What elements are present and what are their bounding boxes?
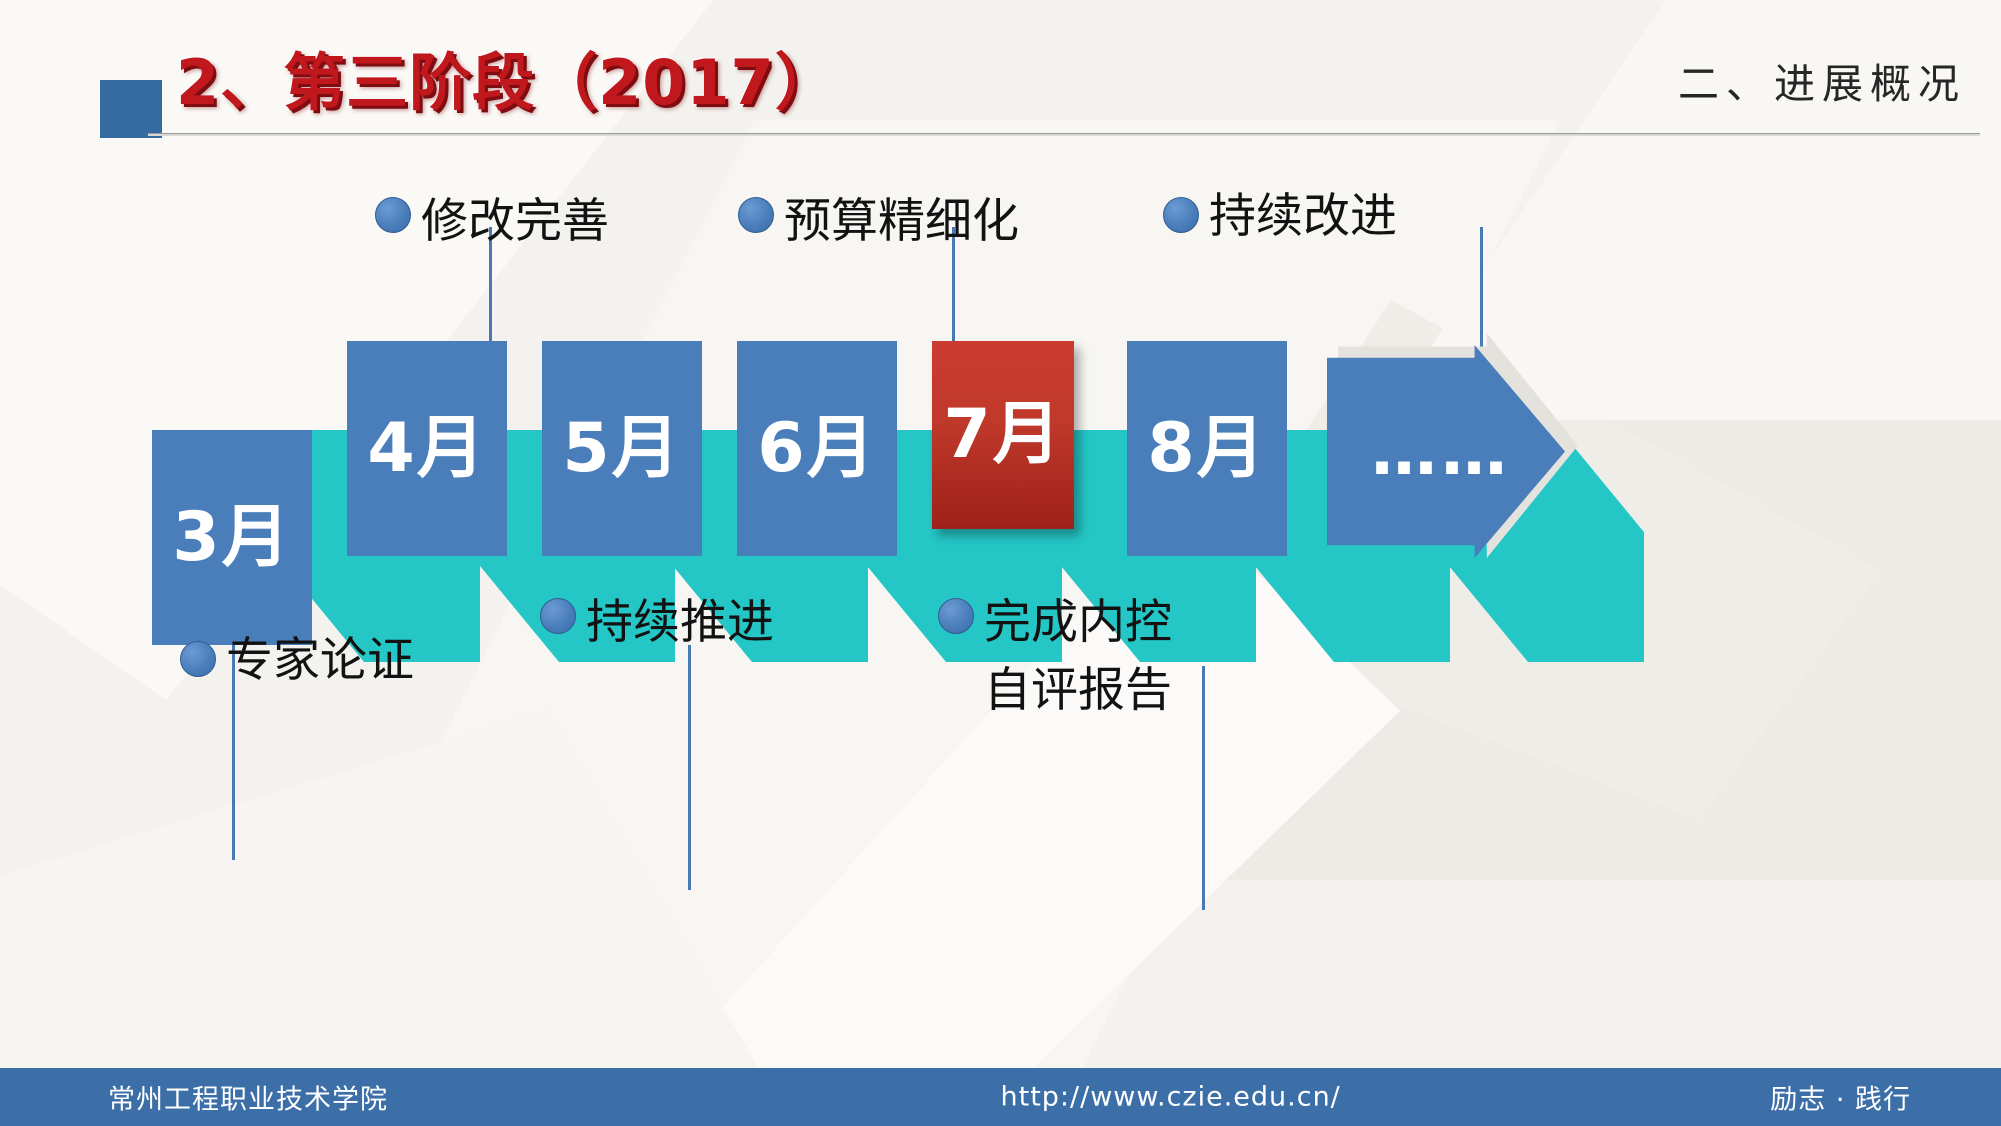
- footer-motto: 励志 · 践行: [1770, 1078, 1911, 1117]
- timeline-step-3[interactable]: 6月: [737, 341, 897, 556]
- milestone-dot-icon: [1163, 197, 1199, 233]
- timeline-step-4-current[interactable]: 7月: [932, 341, 1074, 529]
- timeline-step-1[interactable]: 4月: [347, 341, 507, 556]
- milestone-label: 修改完善: [421, 188, 609, 256]
- timeline-step-label: 7月: [943, 401, 1062, 469]
- leader-line-5月: [688, 645, 691, 890]
- timeline-step-label: 8月: [1147, 415, 1266, 483]
- milestone-dot-icon: [180, 641, 216, 677]
- timeline-step-label: 4月: [367, 415, 486, 483]
- milestone-dot-icon: [938, 598, 974, 634]
- milestone-持续改进: 持续改进: [1163, 188, 1397, 247]
- footer-url[interactable]: http://www.czie.edu.cn/: [1001, 1082, 1341, 1113]
- slide-footer: 常州工程职业技术学院 http://www.czie.edu.cn/ 励志 · …: [0, 1068, 2001, 1126]
- milestone-dot-icon: [738, 197, 774, 233]
- timeline-step-0[interactable]: 3月: [152, 430, 312, 645]
- slide-canvas: 2、第三阶段（2017） 二、进展概况 3月 4月 5月 6月: [0, 0, 2001, 1126]
- timeline-step-2[interactable]: 5月: [542, 341, 702, 556]
- milestone-label: 专家论证: [226, 632, 414, 691]
- timeline-step-label: 6月: [757, 415, 876, 483]
- milestone-dot-icon: [375, 197, 411, 233]
- milestone-dot-icon: [540, 598, 576, 634]
- milestone-修改完善: 修改完善: [375, 188, 609, 256]
- leader-line-7月: [1202, 666, 1205, 910]
- milestone-label: 预算精细化: [784, 188, 1019, 256]
- milestone-label: 持续推进: [586, 589, 774, 657]
- milestone-label: 完成内控 自评报告: [984, 589, 1172, 725]
- milestone-专家论证: 专家论证: [180, 632, 414, 691]
- timeline-step-label: 5月: [562, 415, 681, 483]
- milestone-label: 持续改进: [1209, 188, 1397, 247]
- milestone-完成内控-自评报告: 完成内控 自评报告: [938, 589, 1172, 725]
- timeline-step-label: ……: [1327, 419, 1511, 485]
- milestone-持续推进: 持续推进: [540, 589, 774, 657]
- milestone-预算精细化: 预算精细化: [738, 188, 1019, 256]
- footer-institution: 常州工程职业技术学院: [108, 1078, 388, 1117]
- timeline-step-5[interactable]: 8月: [1127, 341, 1287, 556]
- timeline-step-label: 3月: [172, 504, 291, 572]
- timeline-diagram: 3月 4月 5月 6月 7月 8月 …… 修改完善: [0, 0, 2001, 1126]
